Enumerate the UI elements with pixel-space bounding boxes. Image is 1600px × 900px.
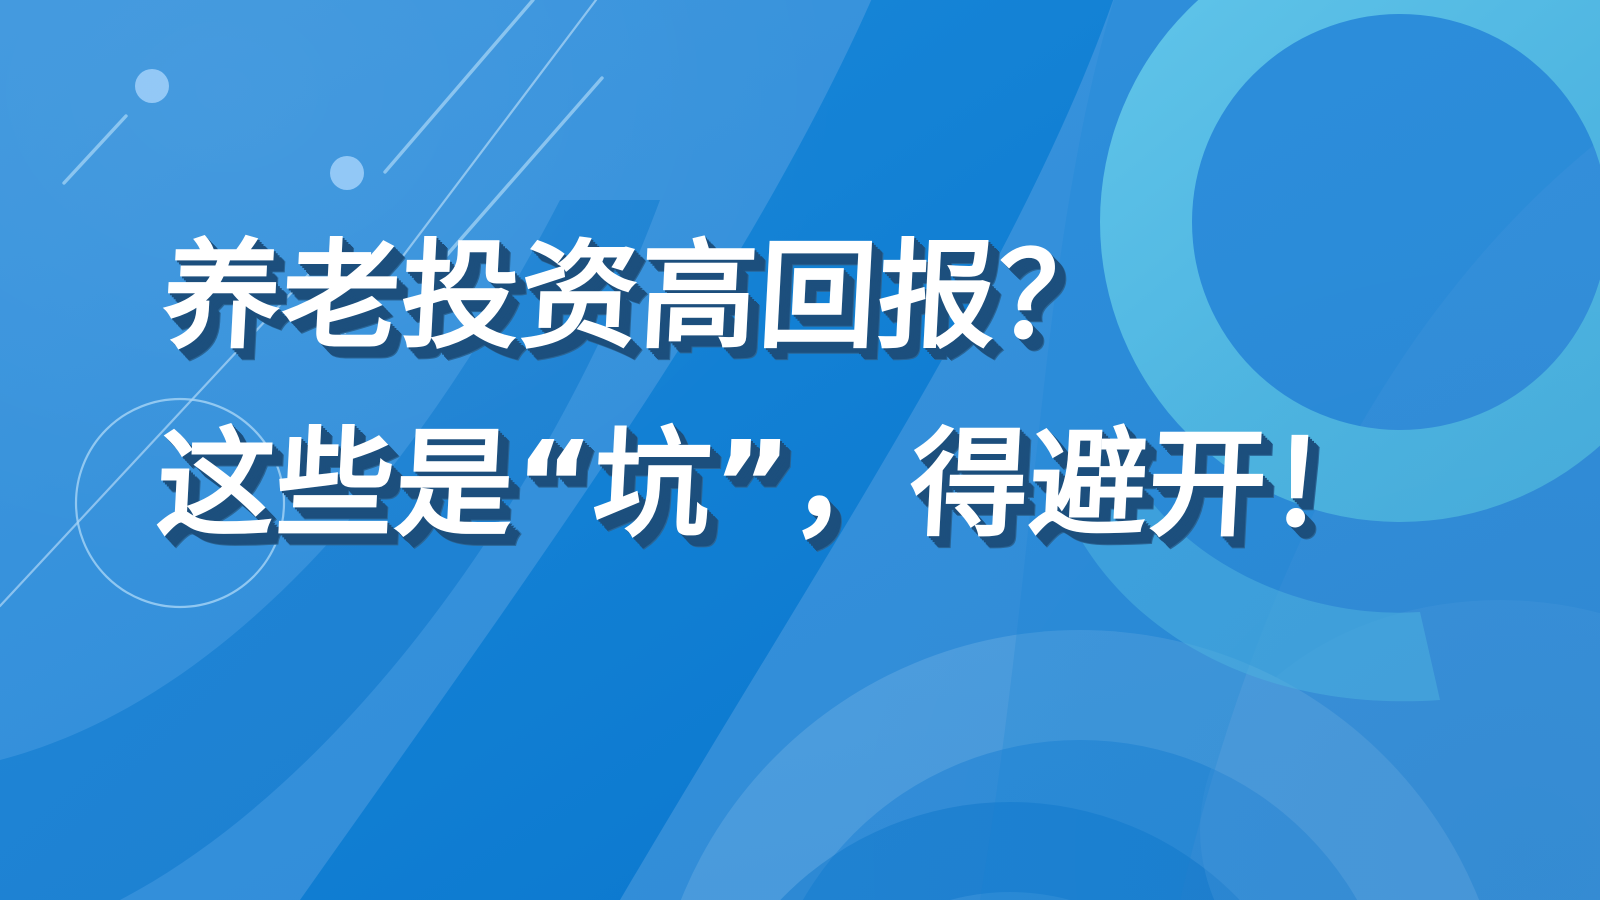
background-graphics (0, 0, 1600, 900)
decor-dot-1 (135, 69, 169, 103)
decor-dot-2 (330, 156, 364, 190)
cyan-ring-icon (1080, 0, 1600, 560)
banner-canvas: 养老投资高回报？ 这些是“坑”，得避开！ (0, 0, 1600, 900)
